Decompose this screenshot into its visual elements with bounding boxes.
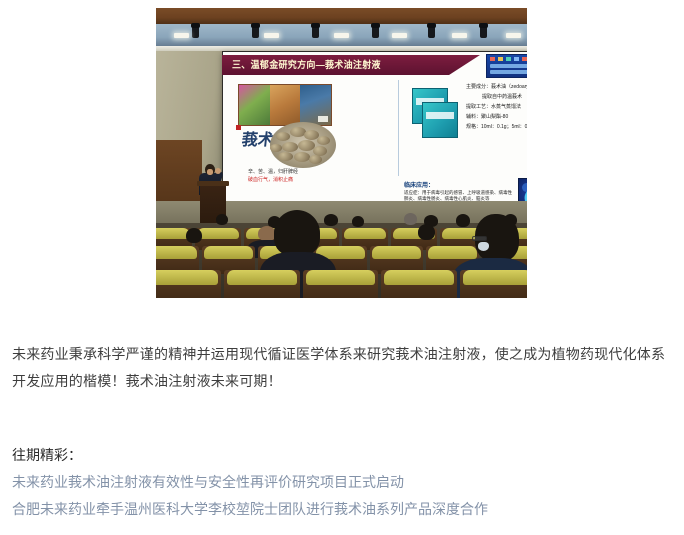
past-issue-link-2[interactable]: 合肥未来药业牵手温州医科大学李校堃院士团队进行莪术油系列产品深度合作 [12, 499, 488, 521]
audience-head [418, 224, 435, 240]
ceiling-lamp-icon [334, 33, 349, 38]
face-mask-icon [478, 242, 489, 251]
presenter-hand [215, 168, 221, 174]
audience-head [404, 213, 417, 225]
podium-top [197, 181, 229, 186]
slide-divider [398, 80, 399, 176]
spec-line: 提取工艺：水蒸气蒸馏法 [466, 102, 527, 112]
presenter-face [207, 169, 213, 175]
slide-body: 莪术 辛、苦、温，归肝脾经 破血行气，消积止痛 [222, 78, 527, 203]
seat [303, 270, 378, 298]
conference-photo: 三、温郁金研究方向—莪术油注射液 莪术 [156, 8, 527, 298]
seat [381, 270, 456, 298]
ceiling-lamp-icon [452, 33, 467, 38]
seat-row-near [156, 270, 527, 298]
hall-wall-left-wood [156, 140, 202, 202]
slide-logo-dots [490, 57, 527, 61]
slide-logo-line [490, 70, 527, 74]
audience-head [456, 214, 470, 227]
audience-head [324, 214, 338, 226]
seat [156, 270, 221, 298]
herb-caption-highlight: 破血行气，消积止痛 [248, 176, 293, 183]
track-light-icon [312, 26, 319, 38]
ceiling-wood-panel [156, 8, 527, 24]
audience-head-foreground [274, 210, 320, 256]
herb-slices-photo [300, 85, 331, 125]
slide-logo-line [490, 64, 527, 68]
slide-title: 三、温郁金研究方向—莪术油注射液 [232, 58, 381, 72]
product-box-photo [412, 88, 458, 138]
ceiling-lamp-icon [506, 33, 521, 38]
herb-flower-photo [239, 85, 270, 125]
audience-head [216, 214, 228, 225]
ceiling-lamp-icon [392, 33, 407, 38]
clinical-application-title: 临床应用： [404, 180, 434, 189]
audience-head [186, 228, 202, 243]
seat [460, 270, 527, 298]
herb-caption: 辛、苦、温，归肝脾经 [248, 168, 298, 175]
past-issue-link-1[interactable]: 未来药业莪术油注射液有效性与安全性再评价研究项目正式启动 [12, 472, 404, 494]
article-body-paragraph: 未来药业秉承科学严谨的精神并运用现代循证医学体系来研究莪术油注射液，使之成为植物… [12, 342, 676, 396]
track-light-icon [372, 26, 379, 38]
herb-photo-tag [318, 116, 328, 122]
track-light-icon [252, 26, 259, 38]
glasses-icon [472, 236, 487, 241]
track-light-icon [192, 26, 199, 38]
spec-line: 主要成分：莪术油（zedoary oil） [466, 82, 527, 92]
seal-icon [236, 125, 241, 130]
slide-spec-list: 主要成分：莪术油（zedoary oil） 提取自中药温莪术 提取工艺：水蒸气蒸… [466, 82, 527, 132]
audience-head [352, 216, 364, 227]
ceiling-lamp-icon [174, 33, 189, 38]
track-light-icon [428, 26, 435, 38]
ceiling-lamp-icon [264, 33, 279, 38]
spec-line: 提取自中药温莪术 [466, 92, 527, 102]
spec-line: 规格：10ml：0.1g；5ml：0.05g [466, 122, 527, 132]
past-issues-heading: 往期精彩： [12, 445, 82, 467]
product-box-front [422, 102, 458, 138]
slide-logo-badge [486, 54, 527, 78]
spec-line: 辅料：聚山梨酯-80 [466, 112, 527, 122]
projection-screen: 三、温郁金研究方向—莪术油注射液 莪术 [222, 51, 527, 203]
herb-photo-strip [238, 84, 332, 126]
herb-root-photo [270, 85, 301, 125]
rhizome-slices-photo [270, 122, 336, 168]
seat [224, 270, 299, 298]
track-light-icon [480, 26, 487, 38]
